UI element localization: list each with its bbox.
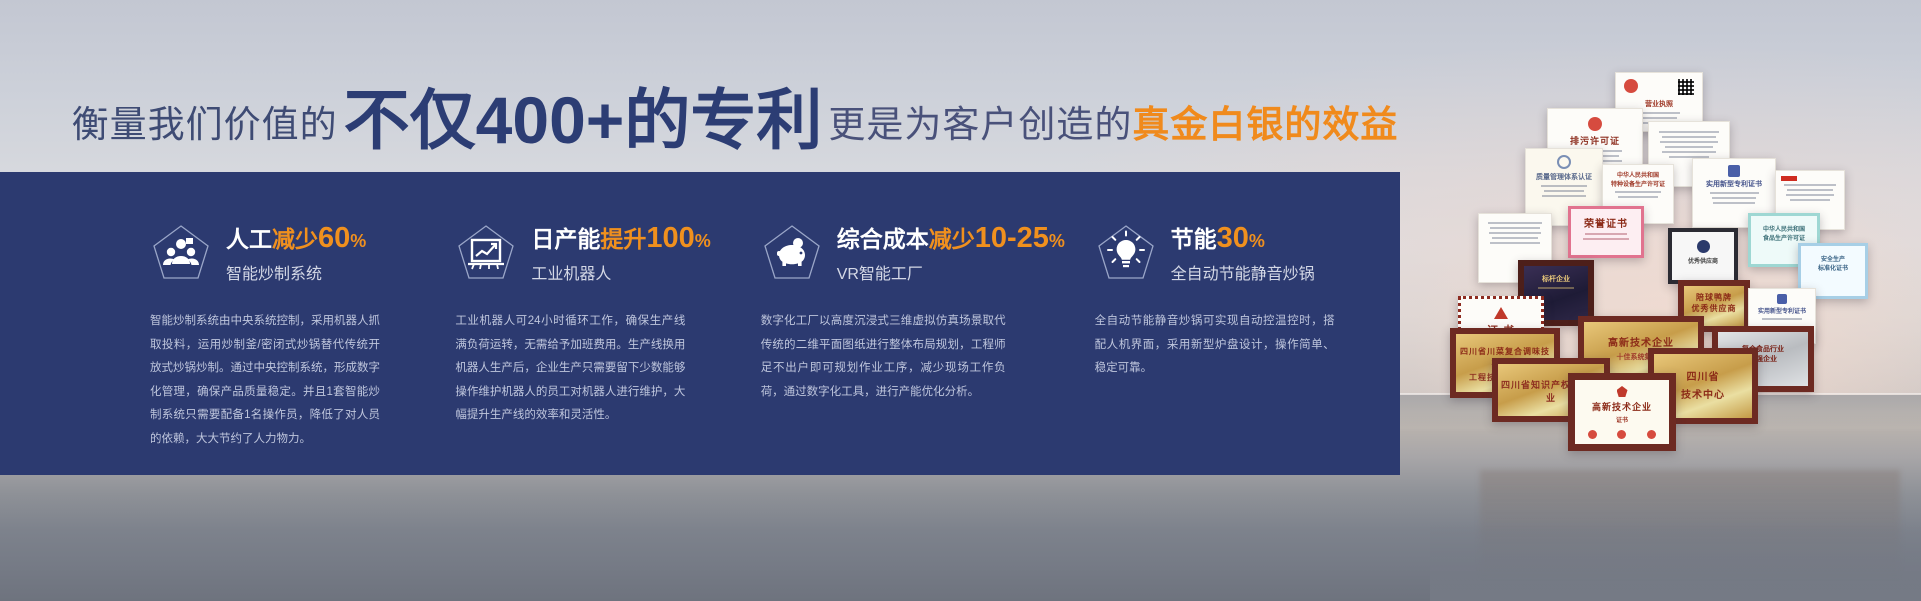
feature-title-orange: 减少 [929,226,975,252]
feature-title: 综合成本减少10-25% [837,222,1065,255]
headline-accent: 真金白银的效益 [1132,94,1398,153]
feature-title-plain: 综合成本 [837,226,929,252]
feature-body: 全自动节能静音炒锅可实现自动控温控时，搭配人机界面，采用新型炉盘设计，操作简单、… [1095,310,1335,381]
feature-header: 日产能提升100% 工业机器人 [455,222,760,284]
feature-subtitle: 智能炒制系统 [226,260,366,284]
certificate-wall: 营业执照 排污许可证 质量管理体系认证 中华人民共和国特种设备生产 [1430,48,1921,601]
lightbulb-icon [1095,222,1157,284]
feature-header: 节能30% 全自动节能静音炒锅 [1095,222,1400,284]
feature-panel: 人工减少60% 智能炒制系统 智能炒制系统由中央系统控制，采用机器人抓取投料，运… [0,172,1400,475]
feature-subtitle: VR智能工厂 [837,260,1065,284]
feature-title-plain: 人工 [226,226,272,252]
certificate-item: 优秀供应商 [1668,228,1738,284]
page-title: 衡量我们价值的 不仅400+的专利 更是为客户创造的 真金白银的效益 [0,58,1470,153]
people-group-icon [150,222,212,284]
feature-subtitle: 全自动节能静音炒锅 [1171,260,1315,284]
feature-column-2: 日产能提升100% 工业机器人 工业机器人可24小时循环工作，确保生产线满负荷运… [455,172,760,475]
piggy-bank-icon [761,222,823,284]
feature-title-number: 10-25 [975,222,1049,254]
feature-text: 节能30% 全自动节能静音炒锅 [1171,222,1315,283]
feature-body: 数字化工厂以高度沉浸式三维虚拟仿真场景取代传统的二维平面图纸进行整体布局规划，工… [761,310,1006,404]
feature-text: 综合成本减少10-25% VR智能工厂 [837,222,1065,283]
feature-title-number: 60 [318,222,350,254]
feature-title-unit: % [1249,231,1265,251]
award-plaque: 高新技术企业 证书 [1568,373,1676,451]
feature-body: 智能炒制系统由中央系统控制，采用机器人抓取投料，运用炒制釜/密闭式炒锅替代传统开… [150,310,380,451]
feature-title-orange: 提升 [600,226,646,252]
feature-text: 人工减少60% 智能炒制系统 [226,222,366,283]
feature-title-unit: % [1049,231,1065,251]
feature-columns: 人工减少60% 智能炒制系统 智能炒制系统由中央系统控制，采用机器人抓取投料，运… [150,172,1400,475]
headline-highlight: 不仅400+的专利 [344,88,823,153]
feature-title: 人工减少60% [226,222,366,255]
feature-title-unit: % [350,231,366,251]
feature-body: 工业机器人可24小时循环工作，确保生产线满负荷运转，无需给予加班费用。生产线换用… [455,310,685,428]
feature-title-orange: 减少 [272,226,318,252]
headline-middle: 更是为客户创造的 [828,94,1132,153]
feature-title-unit: % [695,231,711,251]
feature-column-3: 综合成本减少10-25% VR智能工厂 数字化工厂以高度沉浸式三维虚拟仿真场景取… [761,172,1095,475]
feature-column-4: 节能30% 全自动节能静音炒锅 全自动节能静音炒锅可实现自动控温控时，搭配人机界… [1095,172,1400,475]
feature-title-number: 30 [1217,222,1249,254]
feature-header: 综合成本减少10-25% VR智能工厂 [761,222,1095,284]
feature-header: 人工减少60% 智能炒制系统 [150,222,455,284]
feature-title-plain: 节能 [1171,226,1217,252]
feature-title-plain: 日产能 [531,226,600,252]
feature-text: 日产能提升100% 工业机器人 [531,222,710,283]
feature-subtitle: 工业机器人 [531,260,710,284]
headline-prefix: 衡量我们价值的 [72,94,338,153]
feature-title: 节能30% [1171,222,1315,255]
feature-title-number: 100 [646,222,694,254]
chart-board-icon [455,222,517,284]
feature-title: 日产能提升100% [531,222,710,255]
feature-column-1: 人工减少60% 智能炒制系统 智能炒制系统由中央系统控制，采用机器人抓取投料，运… [150,172,455,475]
certificate-item: 荣誉证书 [1568,206,1644,258]
